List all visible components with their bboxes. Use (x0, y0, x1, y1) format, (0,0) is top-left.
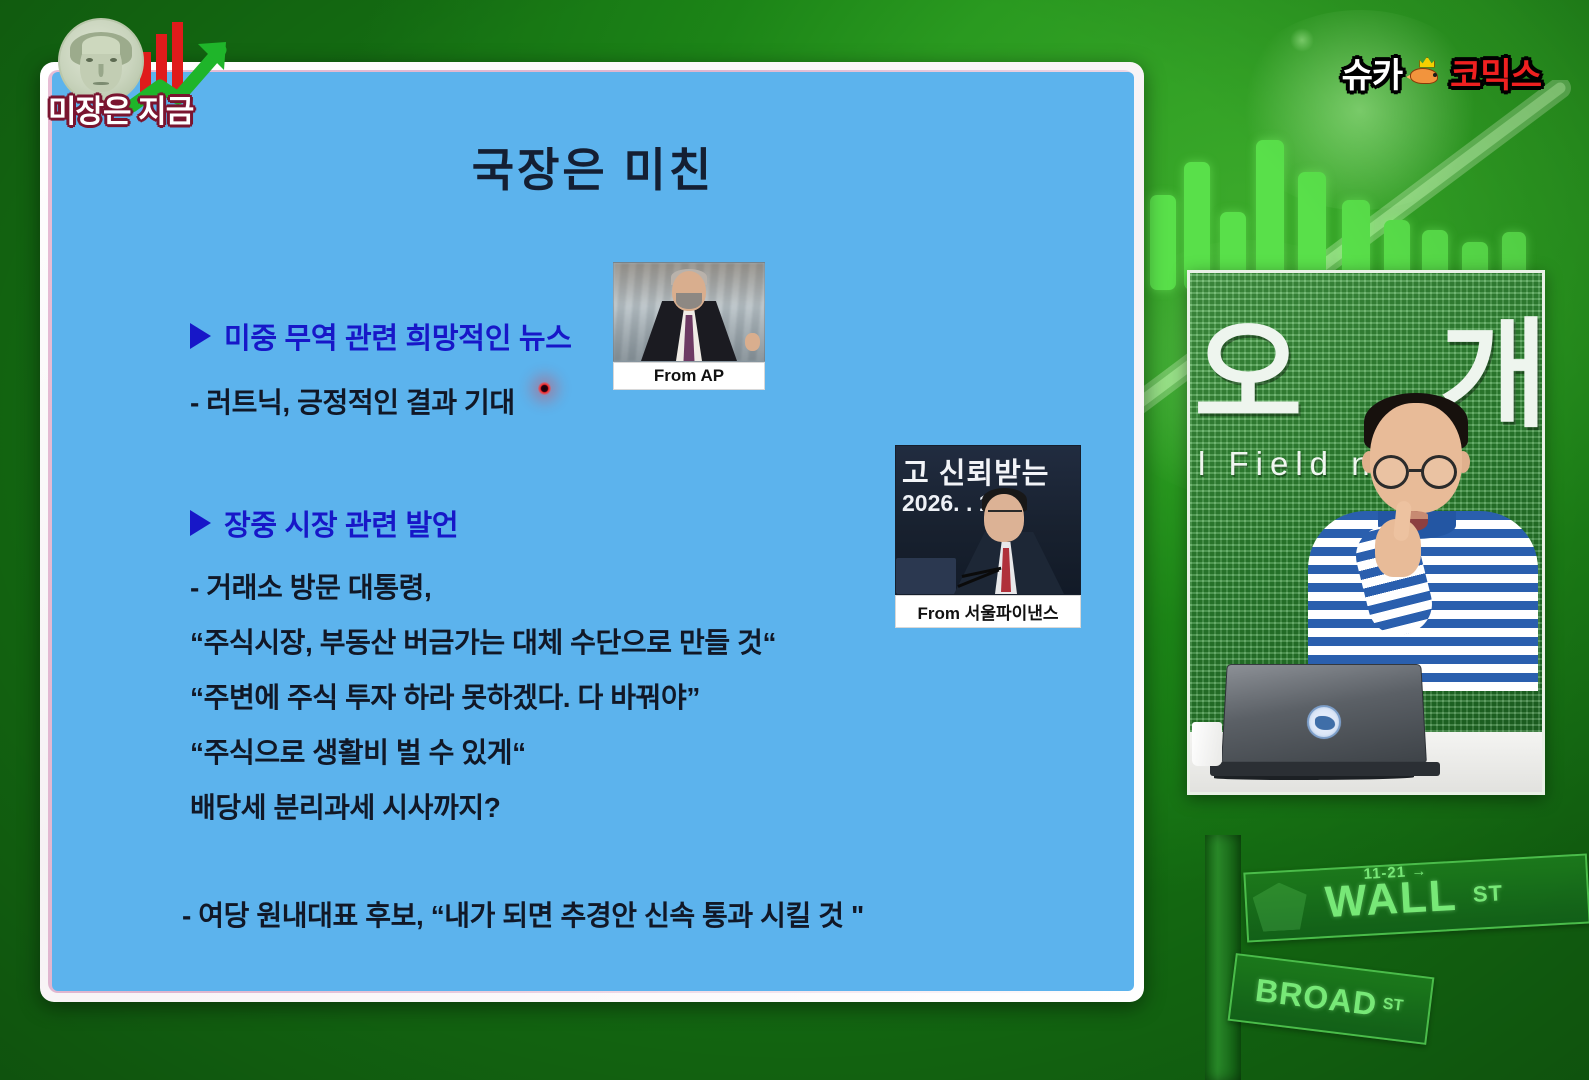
glasses-lens-left-icon (1373, 455, 1409, 489)
slide-footer-line: - 여당 원내대표 후보, “내가 되면 추경안 신속 통과 시킬 것 " (182, 894, 864, 934)
show-logo-text: 미장은 지금 (48, 86, 258, 131)
slide-section-1: 미중 무역 관련 희망적인 뉴스 - 러트닉, 긍정적인 결과 기대 (190, 315, 572, 421)
president-photo-caption: From 서울파이낸스 (895, 595, 1081, 628)
lutnick-photo-caption: From AP (613, 362, 765, 390)
section-1-line-1: - 러트닉, 긍정적인 결과 기대 (190, 381, 572, 421)
cup (1192, 722, 1222, 766)
webcam-view: 오 개 l Field now (1190, 273, 1542, 792)
section-2-line-5: 배당세 분리과세 시사까지? (190, 786, 776, 826)
section-2-line-2: “주식시장, 부동산 버금가는 대체 수단으로 만들 것“ (190, 621, 776, 661)
section-2-heading: 장중 시장 관련 발언 (190, 502, 776, 544)
fish-sticker-icon (1307, 705, 1342, 739)
cross-street-suffix: ST (1382, 995, 1404, 1015)
crowned-shrimp-icon (1406, 56, 1446, 90)
section-2-line-3: “주변에 주식 투자 하라 못하겠다. 다 바꿔야” (190, 676, 776, 716)
president-photo-card: 고 신뢰받는 2026. . 11(4 From 서울파이낸스 (895, 445, 1081, 628)
cross-street-name: BROAD (1253, 972, 1379, 1024)
slide-border: 국장은 미친 미중 무역 관련 희망적인 뉴스 - 러트닉, 긍정적인 결과 기… (48, 70, 1134, 993)
wall-street-sign-graphic: 11-21 → WALL ST BROAD ST (1205, 835, 1589, 1080)
section-2-heading-text: 장중 시장 관련 발언 (224, 502, 458, 544)
city-crest-icon (1252, 881, 1309, 932)
show-logo: 미장은 지금 (48, 18, 258, 133)
brand-word-1: 슈카 (1342, 48, 1403, 97)
laptop-base (1210, 762, 1440, 776)
page-title: 국장은 미친 (52, 134, 1134, 200)
street-name: WALL (1324, 871, 1459, 928)
laser-pointer-dot (538, 382, 551, 395)
broad-st-plate: BROAD ST (1228, 953, 1435, 1045)
slide-frame: 국장은 미친 미중 무역 관련 희망적인 뉴스 - 러트닉, 긍정적인 결과 기… (40, 62, 1144, 1002)
triangle-right-icon (190, 510, 211, 536)
presentation-slide: 국장은 미친 미중 무역 관련 희망적인 뉴스 - 러트닉, 긍정적인 결과 기… (52, 72, 1134, 991)
section-1-heading: 미중 무역 관련 희망적인 뉴스 (190, 315, 572, 357)
slide-section-2: 장중 시장 관련 발언 - 거래소 방문 대통령, “주식시장, 부동산 버금가… (190, 502, 776, 826)
photo2-overlay-top: 고 신뢰받는 (902, 450, 1049, 492)
section-2-line-4: “주식으로 생활비 벌 수 있게“ (190, 731, 776, 771)
wall-st-plate: 11-21 → WALL ST (1243, 853, 1589, 942)
triangle-right-icon (190, 323, 211, 349)
glasses-bridge-icon (1409, 469, 1423, 472)
section-2-line-1: - 거래소 방문 대통령, (190, 566, 776, 606)
section-1-heading-text: 미중 무역 관련 희망적인 뉴스 (224, 315, 572, 357)
brand-word-2: 코믹스 (1450, 48, 1541, 97)
glasses-lens-right-icon (1421, 455, 1457, 489)
president-photo: 고 신뢰받는 2026. . 11(4 (895, 445, 1081, 595)
lutnick-photo-card: From AP (613, 262, 765, 390)
presenter-webcam: 오 개 l Field now (1187, 270, 1545, 795)
street-suffix: ST (1472, 880, 1504, 908)
lutnick-photo (613, 262, 765, 362)
channel-brand-logo: 슈카 코믹스 (1342, 48, 1541, 97)
laptop (1221, 664, 1427, 763)
